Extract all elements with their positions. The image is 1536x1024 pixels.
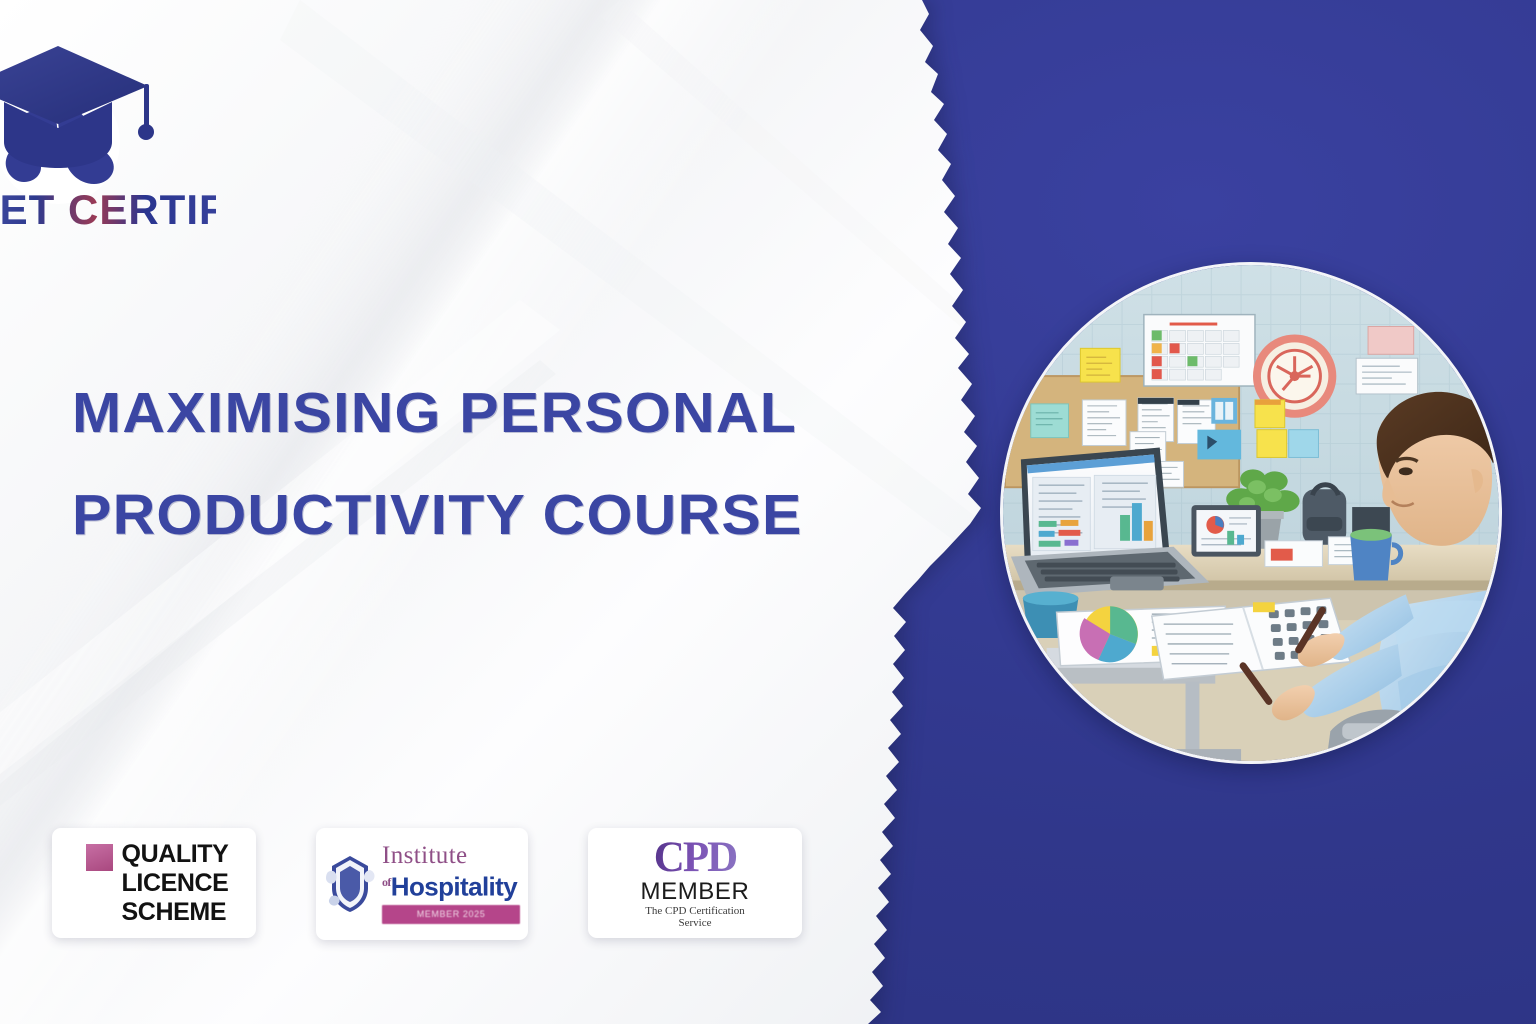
qls-line-3: SCHEME — [122, 898, 229, 927]
ioh-strapline: MEMBER 2025 — [382, 905, 520, 924]
course-banner: GET CERTIFY MAXIMISING PERSONAL PRODUCTI… — [0, 0, 1536, 1024]
accreditation-badges: QUALITY LICENCE SCHEME Institute — [52, 828, 802, 940]
badge-quality-licence-scheme[interactable]: QUALITY LICENCE SCHEME — [52, 828, 256, 938]
title-line-2: PRODUCTIVITY COURSE — [72, 464, 859, 566]
logo-wordmark: GET CERTIFY — [0, 186, 216, 233]
qls-line-1: QUALITY — [122, 840, 229, 869]
wall-calendar — [1144, 315, 1255, 386]
cpd-sub-line-2: Service — [641, 917, 750, 929]
office-scene-illustration — [1003, 265, 1499, 761]
badge-cpd-member[interactable]: CPD MEMBER The CPD Certification Service — [588, 828, 802, 938]
page-title: MAXIMISING PERSONAL PRODUCTIVITY COURSE — [72, 362, 832, 566]
backpack — [1303, 485, 1347, 545]
ioh-connector: of — [382, 875, 391, 889]
cpd-logo: CPD — [641, 838, 750, 878]
graduation-cap-icon — [0, 46, 154, 168]
brand-logo[interactable]: GET CERTIFY — [0, 24, 216, 236]
cpd-member-label: MEMBER — [641, 878, 750, 905]
hero-image — [1000, 262, 1502, 764]
institute-hospitality-crest-icon — [324, 852, 376, 916]
cpd-sub-line-1: The CPD Certification — [641, 905, 750, 917]
ioh-line-2: Hospitality — [391, 872, 517, 902]
ioh-line-1: Institute — [382, 844, 520, 868]
title-line-1: MAXIMISING PERSONAL — [72, 362, 859, 464]
tablet-with-pie-chart — [1191, 505, 1260, 557]
qls-line-2: LICENCE — [122, 869, 229, 898]
badge-institute-of-hospitality[interactable]: Institute ofHospitality MEMBER 2025 — [316, 828, 528, 940]
pink-square-icon — [86, 844, 113, 871]
